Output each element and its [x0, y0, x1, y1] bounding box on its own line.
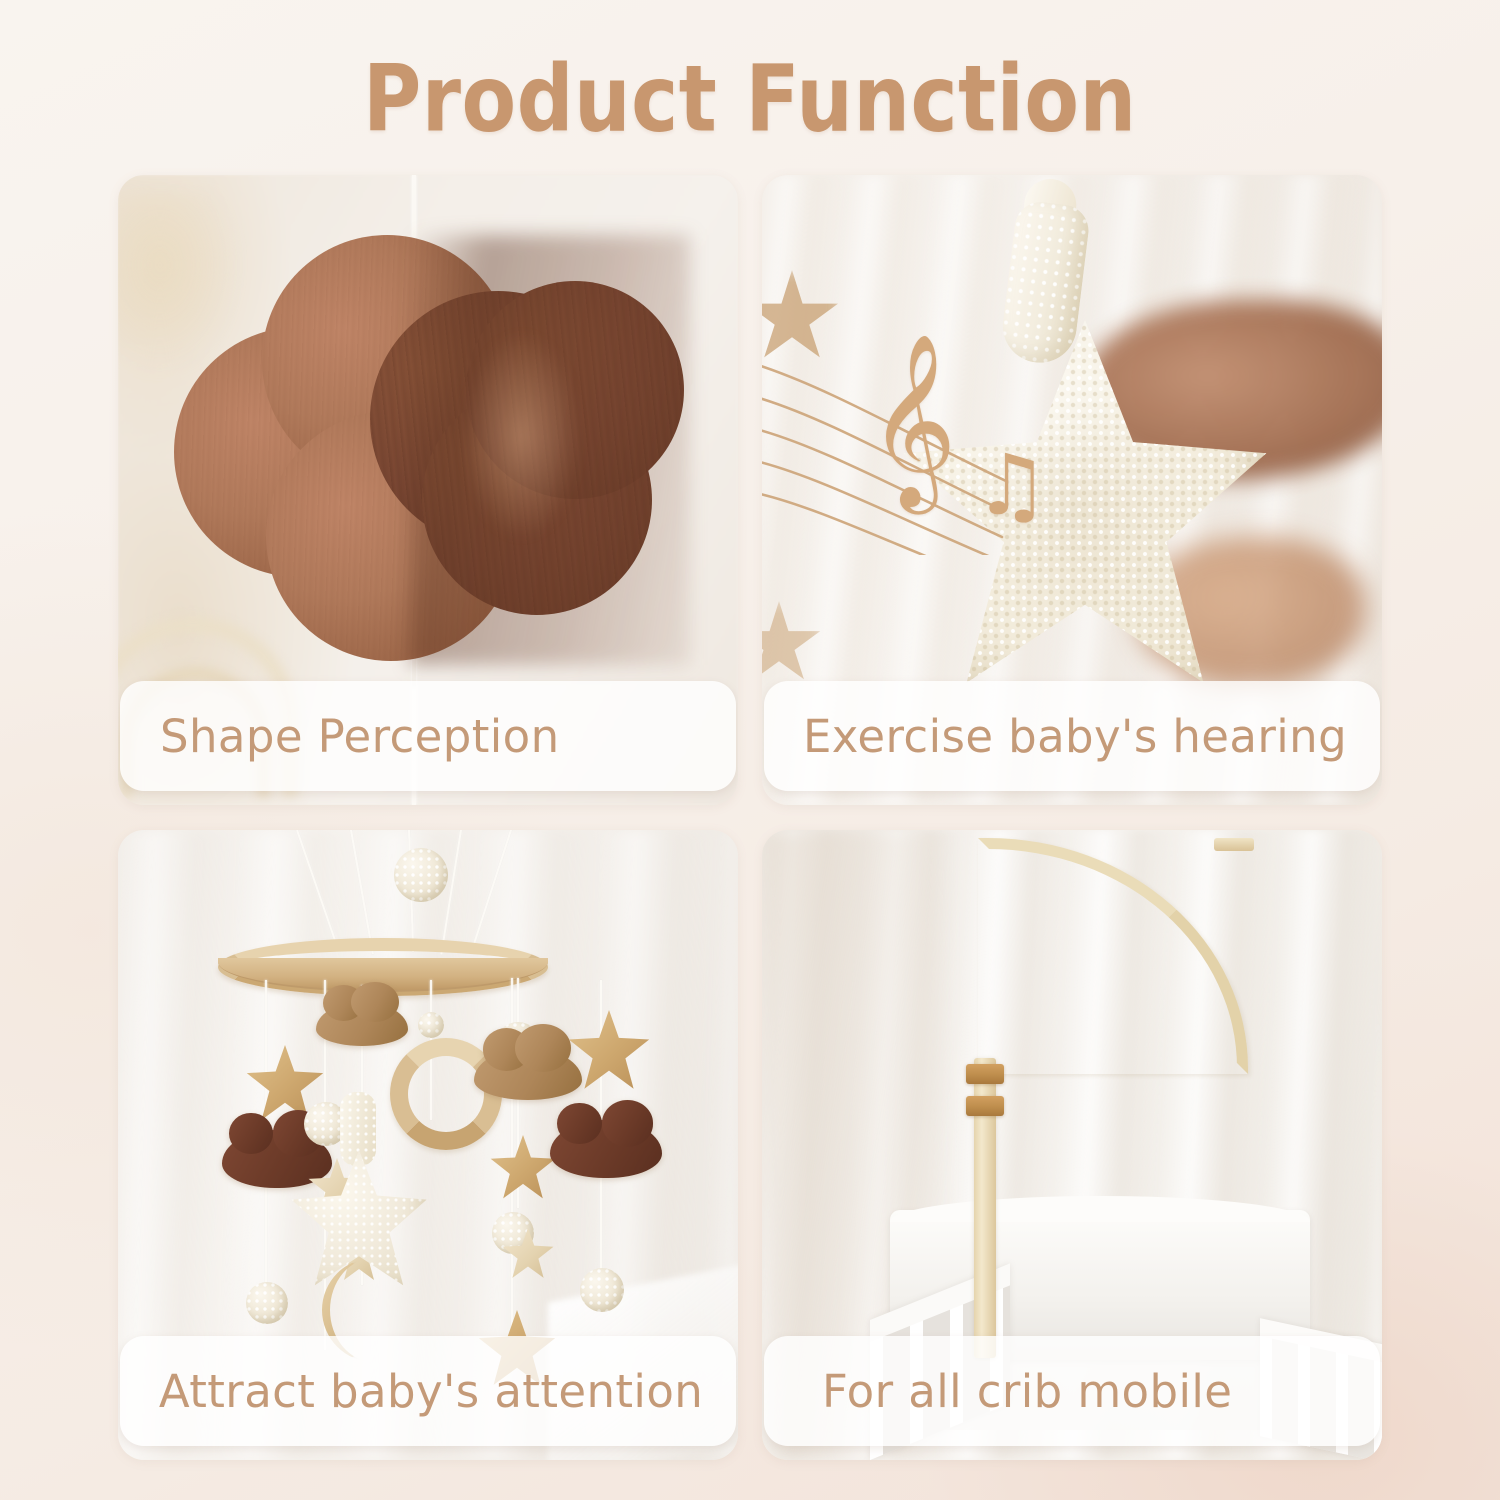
wood-cloud-dark-icon: [550, 1120, 662, 1178]
panel-caption-band: For all crib mobile: [764, 1336, 1380, 1446]
wood-bead-icon: [418, 1012, 444, 1038]
panel-caption-text: Shape Perception: [120, 710, 560, 763]
feature-panel-exercise-hearing[interactable]: 𝄞 ♫ Exercise baby's hearing: [762, 175, 1382, 805]
feature-panel-attract-attention[interactable]: Attract baby's attention: [118, 830, 738, 1460]
panel-caption-band: Shape Perception: [120, 681, 736, 791]
crochet-ball-icon: [394, 848, 448, 902]
crochet-ball-icon: [246, 1282, 288, 1324]
suspension-thread: [470, 830, 512, 954]
panel-caption-band: Exercise baby's hearing: [764, 681, 1380, 791]
wood-cloud-pendant-icon: [174, 235, 684, 665]
page-title: Product Function: [363, 42, 1137, 158]
mobile-arm-tip-icon: [1214, 838, 1254, 851]
wood-cloud-icon: [316, 1002, 408, 1046]
panel-caption-text: For all crib mobile: [764, 1365, 1232, 1418]
panel-caption-text: Exercise baby's hearing: [797, 710, 1347, 763]
feature-grid: Shape Perception: [118, 175, 1382, 1460]
clamp-icon: [966, 1064, 1004, 1084]
clamp-icon: [966, 1096, 1004, 1116]
feature-panel-crib-mobile[interactable]: For all crib mobile: [762, 830, 1382, 1460]
wood-cloud-icon: [474, 1048, 582, 1100]
panel-caption-band: Attract baby's attention: [120, 1336, 736, 1446]
feature-panel-shape-perception[interactable]: Shape Perception: [118, 175, 738, 805]
wood-star-icon: [490, 1135, 556, 1201]
suspension-thread: [440, 830, 462, 955]
crochet-ball-icon: [580, 1268, 624, 1312]
panel-caption-text: Attract baby's attention: [153, 1365, 703, 1418]
page-title-wrapper: Product Function: [0, 42, 1500, 152]
pendant-highlight: [462, 331, 582, 541]
suspension-thread: [296, 830, 340, 951]
suspension-thread: [350, 830, 374, 954]
